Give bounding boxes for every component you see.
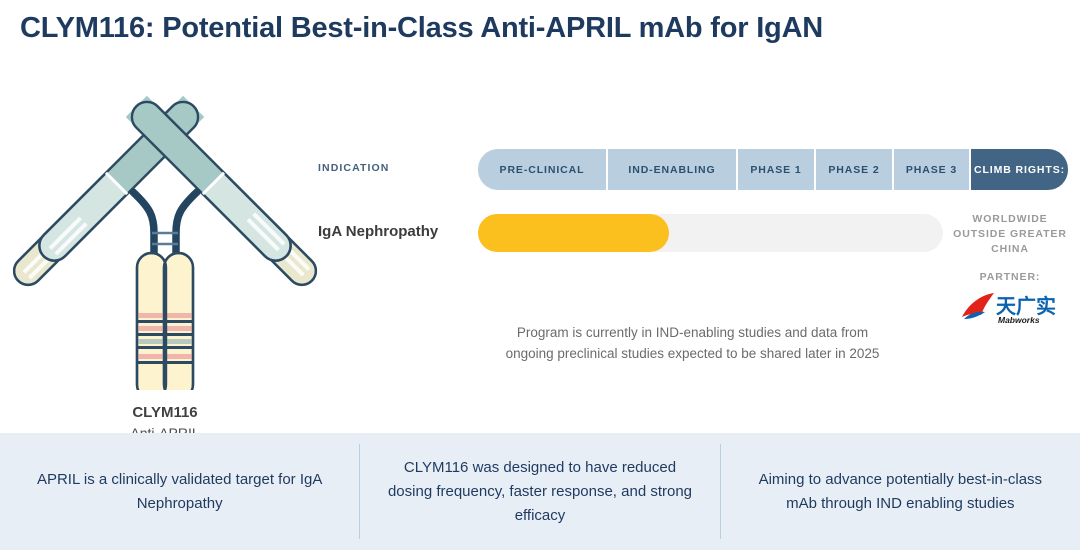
progress-fill — [478, 214, 669, 252]
phase-cell-phase-3[interactable]: PHASE 3 — [894, 149, 971, 190]
program-note-line-2: ongoing preclinical studies expected to … — [460, 343, 925, 364]
molecule-name: CLYM116 — [0, 402, 330, 423]
page-title: CLYM116: Potential Best-in-Class Anti-AP… — [20, 12, 823, 45]
partner-label: PARTNER: — [948, 271, 1072, 283]
territory-line-3: CHINA — [948, 242, 1072, 257]
indication-name: IgA Nephropathy — [318, 223, 438, 240]
phase-cell-ind-enabling[interactable]: IND-ENABLING — [608, 149, 738, 190]
phase-cell-preclinical[interactable]: PRE-CLINICAL — [478, 149, 608, 190]
phase-cell-phase-1[interactable]: PHASE 1 — [738, 149, 816, 190]
program-note: Program is currently in IND-enabling stu… — [460, 322, 925, 364]
rights-column: WORLDWIDE OUTSIDE GREATER CHINA PARTNER:… — [948, 212, 1072, 325]
indication-header: INDICATION — [318, 162, 389, 174]
highlight-1: APRIL is a clinically validated target f… — [0, 468, 359, 516]
antibody-diagram: CLYM116 Anti-APRIL Fc⁺, mAb — [0, 70, 330, 390]
mabworks-logo-icon: 天广实 Mabworks — [958, 291, 1062, 325]
phase-cell-climb-rights[interactable]: CLIMB RIGHTS: — [971, 149, 1068, 190]
phase-header-bar: PRE-CLINICAL IND-ENABLING PHASE 1 PHASE … — [478, 149, 1068, 190]
partner-logo: 天广实 Mabworks — [948, 291, 1072, 325]
slide-root: CLYM116: Potential Best-in-Class Anti-AP… — [0, 0, 1080, 550]
program-note-line-1: Program is currently in IND-enabling stu… — [460, 322, 925, 343]
highlight-2: CLYM116 was designed to have reduced dos… — [360, 456, 719, 528]
progress-track — [478, 214, 943, 252]
territory-line-1: WORLDWIDE — [948, 212, 1072, 227]
highlight-3: Aiming to advance potentially best-in-cl… — [721, 468, 1080, 516]
highlights-band: APRIL is a clinically validated target f… — [0, 433, 1080, 550]
phase-cell-phase-2[interactable]: PHASE 2 — [816, 149, 894, 190]
antibody-y-shape-icon — [0, 70, 330, 390]
territory-line-2: OUTSIDE GREATER — [948, 227, 1072, 242]
partner-logo-wordmark: Mabworks — [998, 315, 1040, 325]
